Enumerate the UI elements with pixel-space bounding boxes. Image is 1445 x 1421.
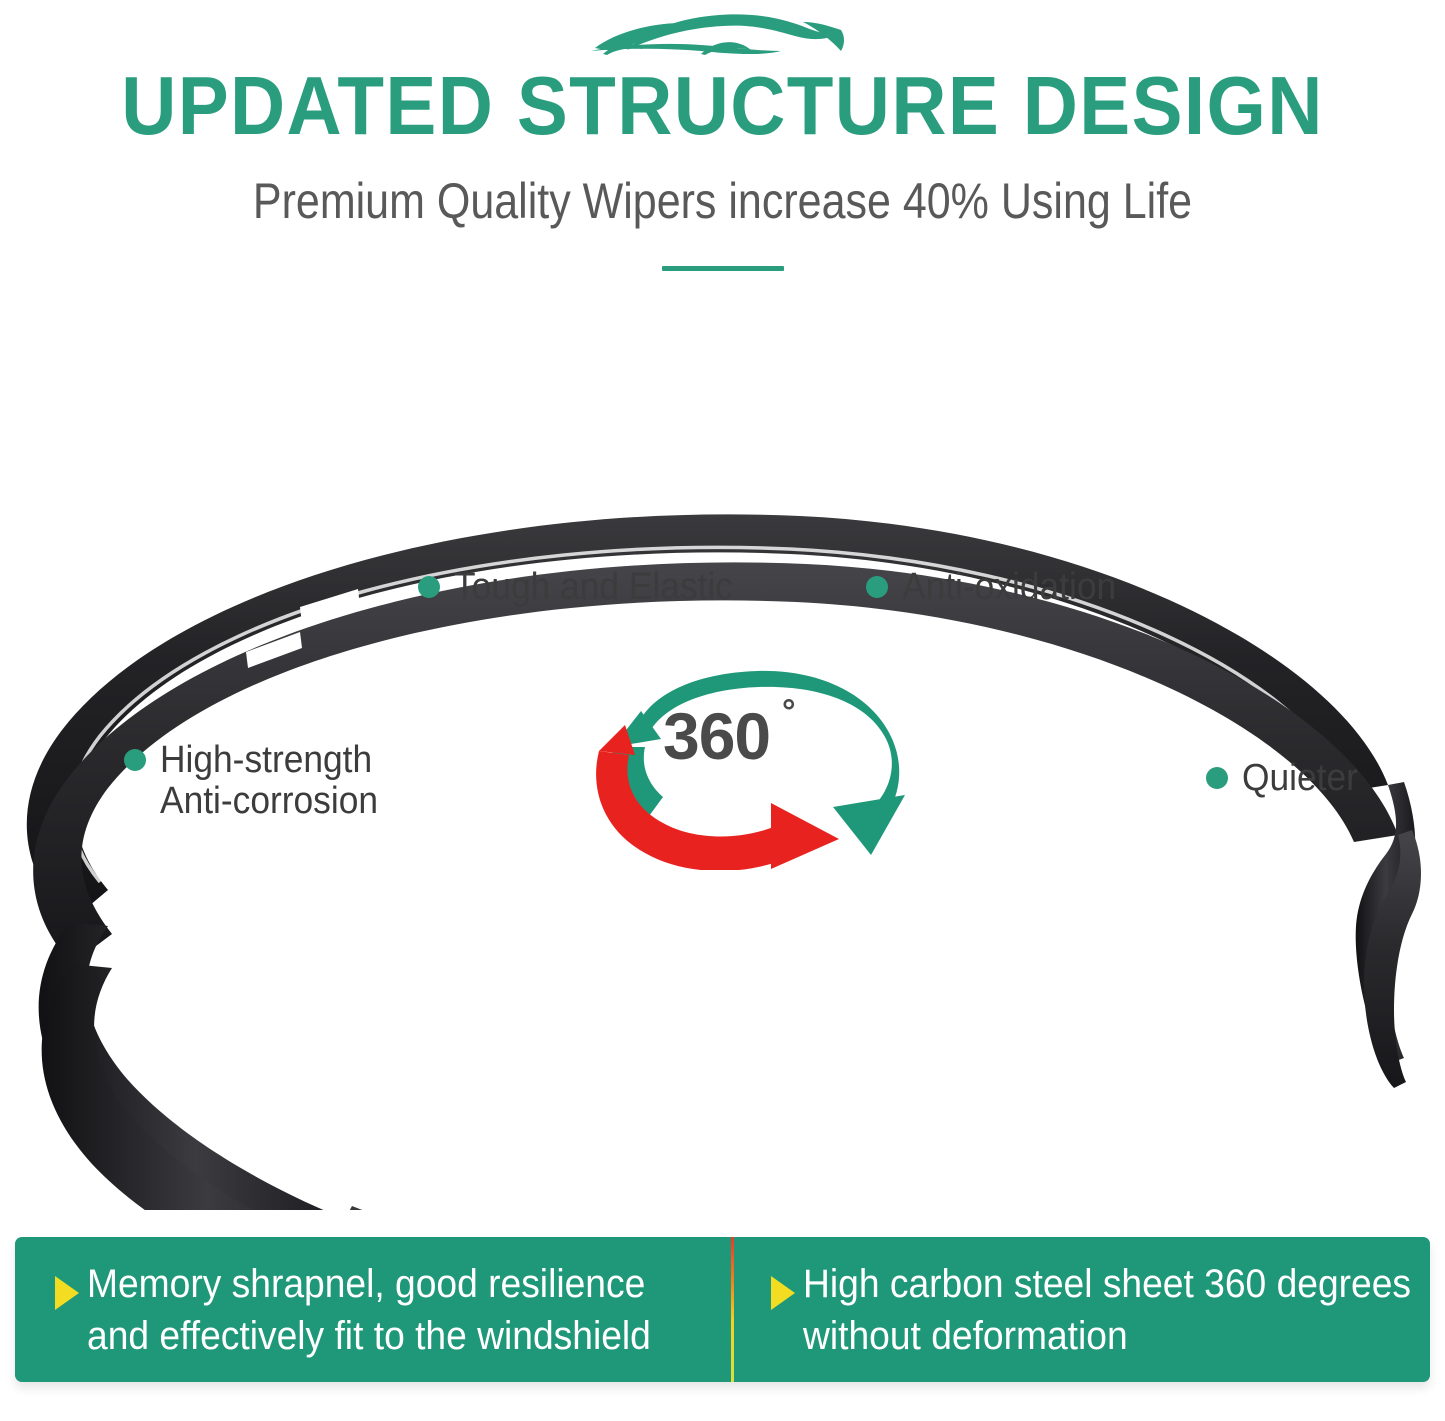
feature-text: Tough and Elastic xyxy=(454,567,733,608)
product-infographic-page: UPDATED STRUCTURE DESIGN Premium Quality… xyxy=(0,0,1445,1421)
triangle-bullet-icon xyxy=(771,1276,795,1310)
badge-degree-symbol: ° xyxy=(782,695,796,729)
page-subtitle: Premium Quality Wipers increase 40% Usin… xyxy=(101,172,1344,230)
triangle-bullet-icon xyxy=(55,1276,79,1310)
green-arrow-head xyxy=(833,795,905,855)
red-arrow-head xyxy=(771,803,839,869)
title-divider xyxy=(662,266,784,271)
feature-label-tough-and-elastic: Tough and Elastic xyxy=(418,567,754,608)
banner-item-text: Memory shrapnel, good resilience and eff… xyxy=(87,1258,651,1362)
bottom-feature-banner: Memory shrapnel, good resilience and eff… xyxy=(15,1237,1430,1382)
feature-text: Quieter xyxy=(1242,758,1358,799)
page-title: UPDATED STRUCTURE DESIGN xyxy=(58,62,1387,150)
banner-item-text: High carbon steel sheet 360 degrees with… xyxy=(803,1258,1411,1362)
bullet-dot-icon xyxy=(1206,767,1228,789)
badge-number: 360 xyxy=(663,703,770,769)
car-silhouette-icon xyxy=(573,2,873,60)
feature-label-quieter: Quieter xyxy=(1206,758,1367,799)
feature-text: Anti-oxidation xyxy=(902,567,1116,608)
banner-item-memory-shrapnel: Memory shrapnel, good resilience and eff… xyxy=(15,1237,731,1382)
bullet-dot-icon xyxy=(418,576,440,598)
banner-item-high-carbon-steel: High carbon steel sheet 360 degrees with… xyxy=(731,1237,1430,1382)
bullet-dot-icon xyxy=(866,576,888,598)
rotation-360-badge: 360 ° xyxy=(575,655,920,870)
feature-text: High-strength Anti-corrosion xyxy=(160,740,378,822)
bullet-dot-icon xyxy=(124,749,146,771)
brand-logo xyxy=(0,2,1445,62)
feature-label-anti-oxidation: Anti-oxidation xyxy=(866,567,1132,608)
blade-strip-outer-bottom xyxy=(318,1206,1112,1210)
feature-label-high-strength-anti-corrosion: High-strength Anti-corrosion xyxy=(124,740,394,822)
